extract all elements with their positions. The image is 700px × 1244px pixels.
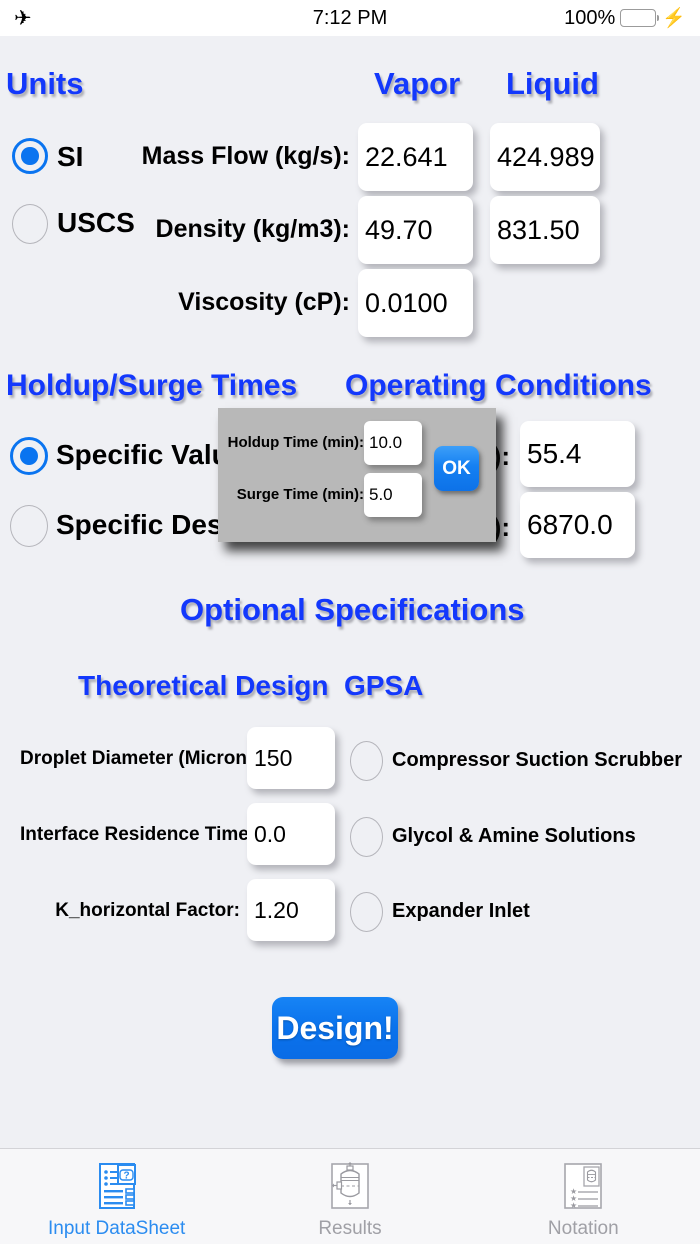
design-button[interactable]: Design!: [272, 997, 398, 1059]
modal-surge-time-input[interactable]: 5.0: [364, 473, 422, 517]
vessel-icon: [322, 1159, 378, 1215]
theoretical-design-heading: Theoretical Design: [78, 670, 329, 702]
radio-specific-design[interactable]: [10, 505, 48, 547]
battery-full-icon: [620, 9, 656, 27]
tab-input-datasheet-label: Input DataSheet: [48, 1218, 185, 1240]
modal-holdup-time-input[interactable]: 10.0: [364, 421, 422, 465]
label-viscosity: Viscosity (cP):: [120, 288, 350, 317]
label-droplet-diameter: Droplet Diameter (Micron):: [20, 748, 240, 770]
radio-specific-values[interactable]: [10, 437, 48, 475]
svg-text:?: ?: [123, 1170, 129, 1181]
radio-dot: [21, 147, 38, 164]
notation-icon: ★ ★ ★: [555, 1159, 611, 1215]
gpsa-heading: GPSA: [344, 670, 423, 702]
holdup-surge-heading: Holdup/Surge Times: [6, 369, 297, 403]
tab-notation-label: Notation: [548, 1218, 619, 1240]
app-root: ✈ 7:12 PM 100% ⚡ Units Vapor Liquid SI U…: [0, 0, 700, 1244]
tab-results-label: Results: [318, 1218, 381, 1240]
label-mass-flow: Mass Flow (kg/s):: [120, 142, 350, 171]
status-bar-clock: 7:12 PM: [313, 7, 387, 30]
status-bar-left: ✈: [14, 8, 238, 29]
label-density: Density (kg/m3):: [120, 215, 350, 244]
input-viscosity-vapor[interactable]: 0.0100: [358, 269, 473, 337]
radio-units-si-label[interactable]: SI: [57, 141, 83, 173]
liquid-heading: Liquid: [506, 66, 599, 102]
radio-expander-inlet[interactable]: [350, 892, 383, 932]
radio-expander-inlet-label[interactable]: Expander Inlet: [392, 900, 530, 923]
status-bar-right: 100% ⚡: [462, 7, 686, 30]
status-bar: ✈ 7:12 PM 100% ⚡: [0, 0, 700, 36]
label-interface-residence-time: Interface Residence Time (s):: [20, 824, 240, 846]
radio-dot: [20, 447, 39, 466]
airplane-mode-icon: ✈: [14, 8, 32, 29]
tab-notation[interactable]: ★ ★ ★ Notation: [467, 1149, 700, 1244]
units-heading: Units: [6, 66, 84, 102]
input-operating-pressure[interactable]: 6870.0: [520, 492, 635, 558]
radio-compressor-suction-scrubber[interactable]: [350, 741, 383, 781]
input-density-liquid[interactable]: 831.50: [490, 196, 600, 264]
input-density-vapor[interactable]: 49.70: [358, 196, 473, 264]
modal-surge-time-label: Surge Time (min):: [224, 486, 364, 503]
radio-units-uscs[interactable]: [12, 204, 48, 244]
operating-conditions-heading: Operating Conditions: [345, 369, 652, 403]
modal-holdup-time-label: Holdup Time (min):: [224, 434, 364, 451]
modal-ok-button[interactable]: OK: [434, 446, 479, 491]
optional-specifications-heading: Optional Specifications: [180, 592, 525, 628]
input-droplet-diameter[interactable]: 150: [247, 727, 335, 789]
radio-compressor-suction-scrubber-label[interactable]: Compressor Suction Scrubber: [392, 749, 682, 772]
tab-results[interactable]: Results: [233, 1149, 466, 1244]
radio-glycol-amine-solutions-label[interactable]: Glycol & Amine Solutions: [392, 825, 636, 848]
input-k-horizontal-factor[interactable]: 1.20: [247, 879, 335, 941]
datasheet-icon: ?: [89, 1159, 145, 1215]
vapor-heading: Vapor: [374, 66, 460, 102]
input-mass-flow-liquid[interactable]: 424.989: [490, 123, 600, 191]
tab-input-datasheet[interactable]: ? Input DataSheet: [0, 1149, 233, 1244]
input-mass-flow-vapor[interactable]: 22.641: [358, 123, 473, 191]
label-k-horizontal-factor: K_horizontal Factor:: [20, 900, 240, 922]
battery-percent-label: 100%: [564, 7, 615, 30]
input-interface-residence-time[interactable]: 0.0: [247, 803, 335, 865]
tab-bar: ? Input DataSheet: [0, 1148, 700, 1244]
radio-glycol-amine-solutions[interactable]: [350, 817, 383, 857]
lightning-bolt-icon: ⚡: [662, 9, 686, 28]
svg-text:★: ★: [570, 1201, 577, 1210]
radio-units-si[interactable]: [12, 138, 48, 174]
input-operating-temperature[interactable]: 55.4: [520, 421, 635, 487]
status-bar-center: 7:12 PM: [238, 7, 462, 30]
